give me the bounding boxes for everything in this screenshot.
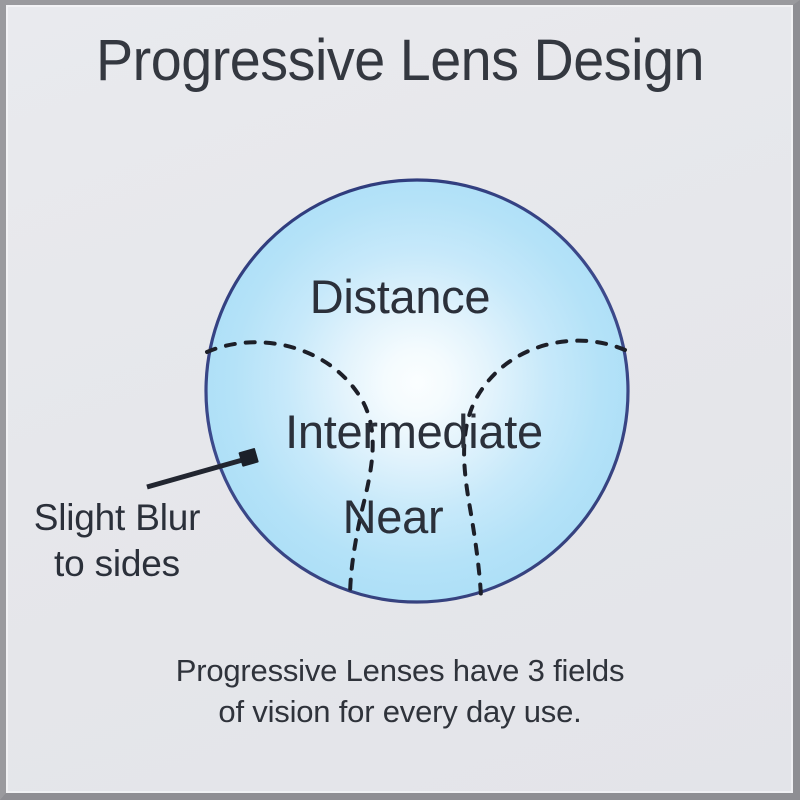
callout-slight-blur: Slight Blur to sides	[6, 495, 228, 587]
zone-label-distance: Distance	[0, 270, 800, 324]
diagram-caption: Progressive Lenses have 3 fields of visi…	[0, 650, 800, 732]
page-title: Progressive Lens Design	[16, 28, 784, 94]
callout-line-2: to sides	[6, 541, 228, 587]
zone-label-intermediate: Intermediate	[14, 405, 800, 459]
caption-line-2: of vision for every day use.	[0, 691, 800, 732]
callout-line-1: Slight Blur	[34, 497, 200, 538]
lens-diagram-canvas: Progressive Lens Design	[0, 0, 800, 800]
caption-line-1: Progressive Lenses have 3 fields	[176, 653, 625, 688]
